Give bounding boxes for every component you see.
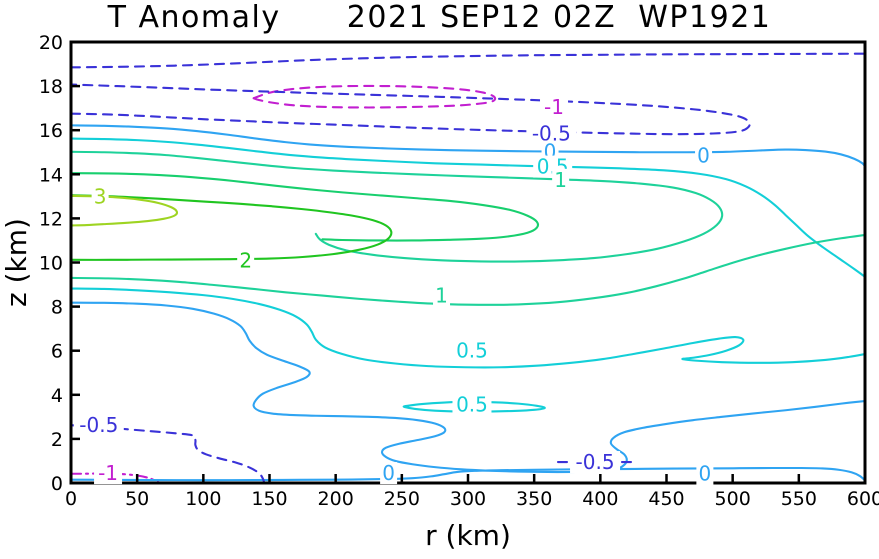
y-tick-label: 14: [39, 164, 63, 186]
y-axis-label: z (km): [0, 218, 33, 307]
y-tick-label: 16: [39, 120, 63, 142]
x-tick-label: 450: [648, 488, 684, 510]
contour-label: -0.5: [576, 450, 615, 474]
y-tick-label: 18: [39, 76, 63, 98]
contour-line: [71, 85, 750, 135]
contour-label: 1: [435, 284, 448, 308]
x-tick-label: 250: [384, 488, 420, 510]
x-tick-label: 200: [318, 488, 354, 510]
x-tick-label: 350: [516, 488, 552, 510]
contour-label: -1: [98, 461, 118, 485]
contour-label: 0: [699, 462, 712, 486]
contour-line: [71, 125, 865, 166]
y-tick-label: 0: [51, 473, 63, 495]
contour-lines: [71, 54, 865, 483]
contour-figure: T Anomaly 2021 SEP12 02Z WP1921 -1-1-0.5…: [0, 0, 879, 559]
plot-frame: [71, 42, 865, 483]
x-tick-label: 400: [582, 488, 618, 510]
contour-line: [71, 196, 177, 226]
x-tick-label: 0: [65, 488, 77, 510]
y-tick-label: 8: [51, 297, 63, 319]
contour-line: [71, 173, 538, 240]
y-tick-label: 12: [39, 208, 63, 230]
contour-labels: -1-1-0.5-0.5-0.500000.50.50.51123: [74, 95, 714, 486]
contour-line: [71, 303, 865, 472]
y-tick-label: 4: [51, 385, 63, 407]
x-tick-label: 500: [715, 488, 751, 510]
x-tick-label: 550: [781, 488, 817, 510]
contour-line: [71, 54, 865, 68]
y-tick-label: 20: [39, 32, 63, 54]
y-tick-label: 10: [39, 253, 63, 275]
x-tick-label: 300: [450, 488, 486, 510]
contour-label: -1: [544, 95, 564, 119]
x-tick-label: 600: [847, 488, 879, 510]
y-tick-label: 6: [51, 341, 63, 363]
contour-label: 1: [554, 168, 567, 192]
contour-plot-canvas: -1-1-0.5-0.5-0.500000.50.50.51123 050100…: [0, 0, 879, 559]
contour-label: 2: [239, 248, 252, 272]
contour-label: 0: [382, 461, 395, 485]
x-tick-label: 100: [185, 488, 221, 510]
contour-label: 0: [697, 144, 710, 168]
x-axis-label: r (km): [425, 519, 511, 552]
x-tick-label: 50: [125, 488, 149, 510]
contour-line: [71, 139, 865, 277]
y-tick-label: 2: [51, 429, 63, 451]
contour-label: 0.5: [456, 339, 488, 363]
contour-label: 0.5: [456, 393, 488, 417]
contour-label: -0.5: [79, 413, 118, 437]
x-tick-label: 150: [251, 488, 287, 510]
contour-label: 3: [94, 184, 107, 208]
